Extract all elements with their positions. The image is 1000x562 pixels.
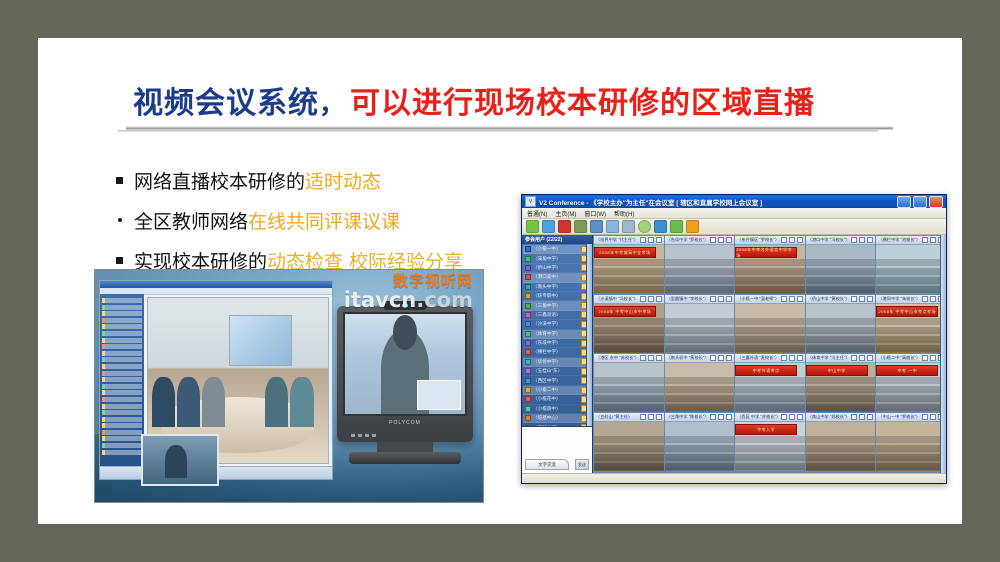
video-cell[interactable]: 〈南山中学 "郑校长"〉: [806, 413, 876, 471]
video-cell-minimize-icon[interactable]: [851, 237, 857, 243]
video-cell-maximize-icon[interactable]: [648, 237, 654, 243]
participant-scrollbar[interactable]: [586, 244, 592, 426]
video-cell-title: 〈小榄一中 "温老师"〉: [737, 296, 779, 302]
video-cell-minimize-icon[interactable]: [640, 237, 646, 243]
video-cell-caption: 〈横栏中学 "池校长"〉: [876, 236, 946, 245]
video-cell-title: 〈纺界中学 "代主任"〉: [596, 237, 638, 243]
video-cell-banner: 中考入学: [735, 424, 797, 435]
monitor-base: [349, 452, 461, 464]
video-cell-caption: 〈港区 东中 "苏校长"〉: [594, 354, 664, 363]
video-cell-minimize-icon[interactable]: [781, 296, 787, 302]
app-statusbar: [522, 473, 946, 484]
video-cell-audience: [735, 436, 805, 471]
video-cell-stream: [876, 422, 946, 471]
video-cell-title: 〈东升镇区 "罗校长"〉: [737, 237, 779, 243]
video-cell-stream: [665, 422, 735, 471]
list-icon[interactable]: [574, 220, 587, 233]
monitor-stand: [377, 442, 433, 452]
broadcast-icon[interactable]: [542, 220, 555, 233]
watermark-chinese: 数字视听网: [344, 274, 473, 289]
participant-color-swatch: [525, 274, 531, 280]
video-cell-stream: 2008年 中考中山市中考场: [594, 304, 664, 353]
video-cell[interactable]: 〈里圆镇中 "李校长"〉: [665, 295, 735, 353]
participant-row[interactable]: 〈体育中学〉: [523, 330, 591, 339]
menu-item-help[interactable]: 帮助(H): [614, 209, 634, 218]
bullet-text-highlight: 适时动态: [305, 167, 381, 194]
video-cell-stream: [876, 245, 946, 294]
video-cell-minimize-icon[interactable]: [640, 355, 646, 361]
participant-color-swatch: [525, 265, 531, 271]
video-cell-close-icon[interactable]: [867, 296, 873, 302]
participant-row[interactable]: 〈三鑫双语〉: [523, 311, 591, 320]
video-cell-title: 〈港同中学 "朱校长"〉: [878, 296, 920, 302]
video-cell[interactable]: 〈体育中学 "冯主任"〉中山中学: [806, 354, 876, 412]
video-cell-caption: 〈南山中学 "郑校长"〉: [806, 413, 876, 422]
video-cell-maximize-icon[interactable]: [789, 296, 795, 302]
monitor-brand-label: POLYCOM: [389, 420, 421, 426]
layout-icon[interactable]: [590, 220, 603, 233]
video-cell-close-icon[interactable]: [656, 355, 662, 361]
video-cell-maximize-icon[interactable]: [648, 414, 654, 420]
video-cell-caption: 〈三角中学 "陈校长"〉: [665, 413, 735, 422]
video-cell-stream: [594, 363, 664, 412]
video-cell-maximize-icon[interactable]: [859, 414, 865, 420]
participant-row[interactable]: 〈小榄花中〉: [523, 395, 591, 404]
video-cell-stream: 中山中学: [806, 363, 876, 412]
bullet-text-black: 网络直播校本研修的: [134, 167, 305, 194]
video-cell-banner: 2008年 中考中山市考点考场: [876, 306, 938, 317]
video-cell-title: 〈港区 东中 "苏校长"〉: [596, 355, 638, 361]
participant-color-swatch: [525, 256, 531, 262]
video-cell-maximize-icon[interactable]: [648, 296, 654, 302]
video-cell[interactable]: 〈三角中学 "陈校长"〉: [665, 413, 735, 471]
video-cell[interactable]: 〈横栏中学 "池校长"〉: [876, 236, 946, 294]
participant-name: 〈三角中学〉: [533, 303, 579, 309]
video-cell-maximize-icon[interactable]: [859, 355, 865, 361]
video-cell-maximize-icon[interactable]: [648, 355, 654, 361]
user-icon[interactable]: [622, 220, 635, 233]
participant-row[interactable]: 〈港口美中〉: [523, 273, 591, 282]
video-cell-caption: 〈西区 中学 "许校长"〉: [735, 413, 805, 422]
participant-name: 〈三鑫双语〉: [533, 312, 579, 318]
photo-window-titlebar: [100, 281, 332, 288]
video-cell-close-icon[interactable]: [867, 237, 873, 243]
video-cell-maximize-icon[interactable]: [930, 237, 936, 243]
close-button[interactable]: [929, 196, 943, 208]
copy-icon[interactable]: [606, 220, 619, 233]
video-cell-caption: 〈港口中学 "冯校长"〉: [806, 236, 876, 245]
slide-canvas: 视频会议系统，可以进行现场校本研修的区域直播 网络直播校本研修的 适时动态 全区…: [0, 0, 1000, 562]
video-cell-close-icon[interactable]: [656, 296, 662, 302]
video-cell-caption: 〈东凤中学 "罗校长"〉: [665, 236, 735, 245]
video-cell-maximize-icon[interactable]: [718, 355, 724, 361]
app-toolbar[interactable]: [522, 219, 946, 235]
video-cell-caption: 〈纺界中学 "代主任"〉: [594, 236, 664, 245]
video-cell-audience: [594, 259, 664, 294]
participant-name: 〈溪角中学〉: [533, 256, 579, 262]
doc-icon[interactable]: [670, 220, 683, 233]
video-cell-maximize-icon[interactable]: [930, 355, 936, 361]
app-body: 参会用户 (22/22) 〈小榄一中〉〈溪角中学〉〈侨山中学〉〈港口美中〉〈南头…: [522, 235, 946, 473]
maximize-button[interactable]: [913, 196, 927, 208]
video-cell-minimize-icon[interactable]: [781, 237, 787, 243]
video-cell-close-icon[interactable]: [726, 355, 732, 361]
video-cell-stream: 中考入学: [735, 422, 805, 471]
participant-count-label: 参会用户 (22/22): [525, 236, 562, 243]
participant-name: 〈体育中学〉: [533, 331, 579, 337]
video-cell-audience: [806, 259, 876, 294]
participant-color-swatch: [525, 349, 531, 355]
participant-panel-header: 参会用户 (22/22): [522, 235, 592, 244]
video-cell-caption: 〈中山一中 "罗校长"〉: [876, 413, 946, 422]
participant-row[interactable]: 〈小榄荫中〉: [523, 405, 591, 414]
video-cell-stream: 2008年中考名外语言中学考场: [735, 245, 805, 294]
participant-color-swatch: [525, 284, 531, 290]
video-cell[interactable]: 〈中山一中 "罗校长"〉: [876, 413, 946, 471]
participant-row[interactable]: 〈侨山中学〉: [523, 264, 591, 273]
participant-name: 〈沙溪中学〉: [533, 321, 579, 327]
menu-item-general[interactable]: 普通(N): [527, 209, 547, 218]
participant-color-swatch: [525, 387, 531, 393]
participant-color-swatch: [525, 312, 531, 318]
participant-row[interactable]: 〈南头中学〉: [523, 283, 591, 292]
participant-row[interactable]: 〈五桂山"东〉: [523, 367, 591, 376]
participant-name: 〈华侨中学〉: [533, 359, 579, 365]
video-cell-audience: [876, 259, 946, 294]
participant-color-swatch: [525, 378, 531, 384]
participant-name: 〈南头中学〉: [533, 284, 579, 290]
chat-send-label: 发送: [578, 462, 586, 468]
video-cell-minimize-icon[interactable]: [851, 414, 857, 420]
chat-tab-label: 文字交流: [538, 462, 556, 468]
participant-name: 〈横栏中学〉: [533, 349, 579, 355]
video-cell[interactable]: 〈小榄一中 "温老师"〉: [735, 295, 805, 353]
video-cell-audience: [806, 318, 876, 353]
video-cell[interactable]: 〈五桂山 "黄主任〉: [594, 413, 664, 471]
video-cell-audience: [735, 259, 805, 294]
video-cell-close-icon[interactable]: [656, 414, 662, 420]
video-cell-title: 〈南头初中 "黄校长"〉: [667, 355, 709, 361]
video-cell[interactable]: 〈港区 东中 "苏校长"〉: [594, 354, 664, 412]
video-cell-stream: [594, 422, 664, 471]
bullet-text-black: 全区教师网络: [134, 207, 248, 234]
participant-color-swatch: [525, 303, 531, 309]
participant-row[interactable]: 〈东成中学〉: [523, 339, 591, 348]
video-cell-minimize-icon[interactable]: [922, 355, 928, 361]
screen-icon[interactable]: [654, 220, 667, 233]
title-comma: ，: [319, 90, 346, 120]
video-cell-close-icon[interactable]: [726, 237, 732, 243]
video-cell-stream: 中考 一中: [876, 363, 946, 412]
video-cell-audience: [876, 377, 946, 412]
video-cell-title: 〈中山一中 "罗校长"〉: [878, 414, 920, 420]
participant-name: 〈西区中学〉: [533, 378, 579, 384]
participant-color-swatch: [525, 359, 531, 365]
video-cell-stream: [665, 304, 735, 353]
window-controls[interactable]: [897, 196, 943, 208]
video-cell-caption: 〈侨山中学 "黄校长"〉: [806, 295, 876, 304]
video-cell-audience: [876, 318, 946, 353]
page-title: 视频会议系统，可以进行现场校本研修的区域直播: [133, 78, 815, 122]
monitor-buttons: [351, 434, 376, 437]
video-cell-close-icon[interactable]: [797, 414, 803, 420]
bullet-dot-icon: [116, 218, 134, 222]
app-titlebar: V V2 Conference - 《学校主办"为主任"在会议室 [ 辖区和直属…: [522, 195, 946, 208]
video-cell-maximize-icon[interactable]: [859, 296, 865, 302]
video-cell[interactable]: 〈东升镇区 "罗校长"〉2008年中考名外语言中学考场: [735, 236, 805, 294]
video-cell-banner: 2008年 中考中山市中考场: [594, 306, 656, 317]
title-divider: [118, 126, 893, 135]
videoconference-photo: POLYCOM 数字视听网 itavcn.com: [95, 270, 483, 502]
minimize-button[interactable]: [897, 196, 911, 208]
participant-row[interactable]: 〈横栏中学〉: [523, 348, 591, 357]
video-cell-stream: 2008年中考城高中全考场: [594, 245, 664, 294]
participant-name: 〈侨山中学〉: [533, 265, 579, 271]
watermark-tld: .com: [416, 288, 473, 312]
video-cell-minimize-icon[interactable]: [781, 414, 787, 420]
video-cell[interactable]: 〈三鑫外语 "麦校长"〉中考外语考点: [735, 354, 805, 412]
participant-row[interactable]: 〈三角中学〉: [523, 301, 591, 310]
video-cell-caption: 〈小榄一中 "温老师"〉: [735, 295, 805, 304]
video-cell-minimize-icon[interactable]: [640, 296, 646, 302]
video-cell-title: 〈沙溪镇中 "冯校长"〉: [596, 296, 638, 302]
record-icon[interactable]: [558, 220, 571, 233]
video-cell-audience: [594, 318, 664, 353]
monitor-screen: [343, 312, 467, 416]
video-cell-minimize-icon[interactable]: [922, 237, 928, 243]
video-cell-audience: [735, 318, 805, 353]
video-cell-audience: [665, 318, 735, 353]
video-cell-maximize-icon[interactable]: [789, 414, 795, 420]
video-cell-maximize-icon[interactable]: [789, 355, 795, 361]
participant-name: 〈港口美中〉: [533, 274, 579, 280]
video-grid-panel: 〈纺界中学 "代主任"〉2008年中考城高中全考场〈东凤中学 "罗校长"〉〈东升…: [593, 235, 946, 473]
app-menubar[interactable]: 普通(N) 主页(M) 窗口(W) 帮助(H): [522, 208, 946, 219]
divider-line-shadow: [118, 130, 878, 132]
participant-color-swatch: [525, 331, 531, 337]
video-cell-maximize-icon[interactable]: [930, 296, 936, 302]
video-cell-audience: [594, 377, 664, 412]
video-cell-stream: [806, 422, 876, 471]
list-item: 全区教师网络 在线共同评课议课: [116, 200, 511, 240]
video-cell[interactable]: 〈港口中学 "冯校长"〉: [806, 236, 876, 294]
settings-icon[interactable]: [686, 220, 699, 233]
participant-name: 〈五桂山"东〉: [533, 368, 579, 374]
video-cell-title: 〈东凤中学 "罗校长"〉: [667, 237, 709, 243]
video-cell-caption: 〈南头初中 "黄校长"〉: [665, 354, 735, 363]
bullet-square-icon: [116, 257, 134, 264]
app-icon: V: [525, 196, 536, 207]
video-cell-audience: [806, 436, 876, 471]
chat-send-button[interactable]: 发送: [575, 459, 589, 470]
menu-item-window[interactable]: 窗口(W): [584, 209, 606, 218]
participant-scroll-area[interactable]: 〈小榄一中〉〈溪角中学〉〈侨山中学〉〈港口美中〉〈南头中学〉〈纺专职中〉〈三角中…: [522, 244, 592, 426]
participant-row[interactable]: 〈沙溪中学〉: [523, 320, 591, 329]
video-cell[interactable]: 〈港同中学 "朱校长"〉2008年 中考中山市考点考场: [876, 295, 946, 353]
video-cell-maximize-icon[interactable]: [718, 296, 724, 302]
video-cell-audience: [735, 377, 805, 412]
video-cell-audience: [806, 377, 876, 412]
video-cell[interactable]: 〈侨山中学 "黄校长"〉: [806, 295, 876, 353]
video-cell-caption: 〈港同中学 "朱校长"〉: [876, 295, 946, 304]
participant-name: 〈纺专职中〉: [533, 293, 579, 299]
presentation-slide: 视频会议系统，可以进行现场校本研修的区域直播 网络直播校本研修的 适时动态 全区…: [38, 38, 962, 524]
participant-color-swatch: [525, 293, 531, 299]
participant-color-swatch: [525, 406, 531, 412]
participant-name: 〈小榄花中〉: [533, 396, 579, 402]
photo-picture-in-picture: [141, 434, 219, 486]
video-cell-title: 〈南山中学 "郑校长"〉: [808, 414, 850, 420]
video-cell-title: 〈五桂山 "黄主任〉: [596, 414, 638, 420]
photo-window-participant-list: [100, 294, 144, 467]
video-cell-maximize-icon[interactable]: [718, 414, 724, 420]
video-cell-stream: [665, 245, 735, 294]
video-grid: 〈纺界中学 "代主任"〉2008年中考城高中全考场〈东凤中学 "罗校长"〉〈东升…: [594, 236, 946, 471]
participant-row[interactable]: 〈西区中学〉: [523, 376, 591, 385]
video-cell-minimize-icon[interactable]: [640, 414, 646, 420]
video-cell-minimize-icon[interactable]: [922, 296, 928, 302]
video-cell-close-icon[interactable]: [867, 355, 873, 361]
participant-name: 〈小榄二中〉: [533, 387, 579, 393]
video-cell-close-icon[interactable]: [797, 355, 803, 361]
video-cell-title: 〈横栏中学 "池校长"〉: [878, 237, 920, 243]
video-cell-stream: 2008年 中考中山市考点考场: [876, 304, 946, 353]
video-cell-minimize-icon[interactable]: [710, 237, 716, 243]
video-cell-audience: [665, 259, 735, 294]
video-cell-caption: 〈里圆镇中 "李校长"〉: [665, 295, 735, 304]
participant-row[interactable]: 〈溪角中学〉: [523, 254, 591, 263]
video-cell-banner: 2008年中考名外语言中学考场: [735, 247, 797, 258]
video-cell-maximize-icon[interactable]: [789, 237, 795, 243]
video-cell-stream: [735, 304, 805, 353]
participant-name: 〈东成中学〉: [533, 340, 579, 346]
video-cell-minimize-icon[interactable]: [710, 355, 716, 361]
participant-row[interactable]: 〈华侨中学〉: [523, 358, 591, 367]
participant-color-swatch: [525, 246, 531, 252]
participant-color-swatch: [525, 368, 531, 374]
video-cell-banner: 中考外语考点: [735, 365, 797, 376]
video-cell-caption: 〈东升镇区 "罗校长"〉: [735, 236, 805, 245]
video-cell-close-icon[interactable]: [656, 237, 662, 243]
bullet-list: 网络直播校本研修的 适时动态 全区教师网络 在线共同评课议课 实现校本研修的 动…: [116, 160, 511, 280]
video-cell-close-icon[interactable]: [726, 414, 732, 420]
video-cell-caption: 〈五桂山 "黄主任〉: [594, 413, 664, 422]
video-cell[interactable]: 〈西区 中学 "许校长"〉中考入学: [735, 413, 805, 471]
video-cell-close-icon[interactable]: [726, 296, 732, 302]
video-cell-stream: [806, 245, 876, 294]
home-icon[interactable]: [526, 220, 539, 233]
video-cell-caption: 〈沙溪镇中 "冯校长"〉: [594, 295, 664, 304]
app-title-text: V2 Conference - 《学校主办"为主任"在会议室 [ 辖区和直属学校…: [539, 197, 897, 207]
video-cell[interactable]: 〈纺界中学 "代主任"〉2008年中考城高中全考场: [594, 236, 664, 294]
video-cell-maximize-icon[interactable]: [859, 237, 865, 243]
participant-row[interactable]: 〈纺专职中〉: [523, 292, 591, 301]
video-cell-maximize-icon[interactable]: [718, 237, 724, 243]
video-cell-close-icon[interactable]: [797, 237, 803, 243]
video-cell[interactable]: 〈小榄二中 "高校长"〉中考 一中: [876, 354, 946, 412]
bullet-text-highlight: 在线共同评课议课: [248, 207, 400, 234]
video-cell-banner: 中山中学: [806, 365, 868, 376]
refresh-icon[interactable]: [638, 220, 651, 233]
video-cell-minimize-icon[interactable]: [851, 355, 857, 361]
photo-watermark: 数字视听网 itavcn.com: [344, 274, 473, 311]
participant-row[interactable]: 〈小榄一中〉: [523, 245, 591, 254]
video-cell-minimize-icon[interactable]: [710, 414, 716, 420]
watermark-site: itavcn: [344, 288, 417, 312]
participant-name: 〈小榄一中〉: [533, 246, 579, 252]
chat-tab[interactable]: 文字交流: [525, 459, 569, 470]
video-cell[interactable]: 〈东凤中学 "罗校长"〉: [665, 236, 735, 294]
list-item: 网络直播校本研修的 适时动态: [116, 160, 511, 200]
participant-color-swatch: [525, 415, 531, 421]
video-cell-banner: 2008年中考城高中全考场: [594, 247, 656, 258]
video-cell-caption: 〈小榄二中 "高校长"〉: [876, 354, 946, 363]
video-cell[interactable]: 〈沙溪镇中 "冯校长"〉2008年 中考中山市中考场: [594, 295, 664, 353]
video-cell-minimize-icon[interactable]: [922, 414, 928, 420]
video-cell-minimize-icon[interactable]: [781, 355, 787, 361]
video-cell-title: 〈小榄二中 "高校长"〉: [878, 355, 920, 361]
video-cell-title: 〈西区 中学 "许校长"〉: [737, 414, 779, 420]
video-cell-stream: 中考外语考点: [735, 363, 805, 412]
conference-app-window: V V2 Conference - 《学校主办"为主任"在会议室 [ 辖区和直属…: [521, 194, 947, 484]
video-cell-title: 〈三角中学 "陈校长"〉: [667, 414, 709, 420]
participant-name: 〈培基中心〉: [533, 415, 579, 421]
video-cell-title: 〈里圆镇中 "李校长"〉: [667, 296, 709, 302]
video-cell-minimize-icon[interactable]: [851, 296, 857, 302]
participant-panel: 参会用户 (22/22) 〈小榄一中〉〈溪角中学〉〈侨山中学〉〈港口美中〉〈南头…: [522, 235, 593, 473]
video-cell-audience: [665, 436, 735, 471]
polycom-monitor: POLYCOM: [337, 306, 473, 442]
video-cell-caption: 〈体育中学 "冯主任"〉: [806, 354, 876, 363]
video-cell[interactable]: 〈南头初中 "黄校长"〉: [665, 354, 735, 412]
video-cell-maximize-icon[interactable]: [930, 414, 936, 420]
video-cell-close-icon[interactable]: [867, 414, 873, 420]
menu-item-home[interactable]: 主页(M): [555, 209, 576, 218]
video-cell-audience: [876, 436, 946, 471]
participant-color-swatch: [525, 340, 531, 346]
video-cell-audience: [594, 436, 664, 471]
participant-row[interactable]: 〈培基中心〉: [523, 414, 591, 423]
video-cell-stream: [665, 363, 735, 412]
title-part-red: 可以进行现场校本研修的区域直播: [350, 86, 815, 121]
participant-row[interactable]: 〈小榄二中〉: [523, 386, 591, 395]
video-cell-close-icon[interactable]: [797, 296, 803, 302]
participant-name: 〈小榄荫中〉: [533, 406, 579, 412]
participant-color-swatch: [525, 396, 531, 402]
video-cell-minimize-icon[interactable]: [710, 296, 716, 302]
title-part-blue: 视频会议系统: [133, 86, 319, 121]
video-cell-title: 〈体育中学 "冯主任"〉: [808, 355, 850, 361]
video-grid-scrollbar[interactable]: [940, 235, 946, 473]
video-cell-title: 〈侨山中学 "黄校长"〉: [808, 296, 850, 302]
video-cell-audience: [665, 377, 735, 412]
participant-color-swatch: [525, 321, 531, 327]
video-cell-caption: 〈三鑫外语 "麦校长"〉: [735, 354, 805, 363]
bullet-square-icon: [116, 177, 134, 184]
video-cell-title: 〈港口中学 "冯校长"〉: [808, 237, 850, 243]
video-cell-banner: 中考 一中: [876, 365, 938, 376]
video-cell-title: 〈三鑫外语 "麦校长"〉: [737, 355, 779, 361]
chat-panel[interactable]: 文字交流 发送: [522, 426, 592, 473]
video-cell-stream: [806, 304, 876, 353]
